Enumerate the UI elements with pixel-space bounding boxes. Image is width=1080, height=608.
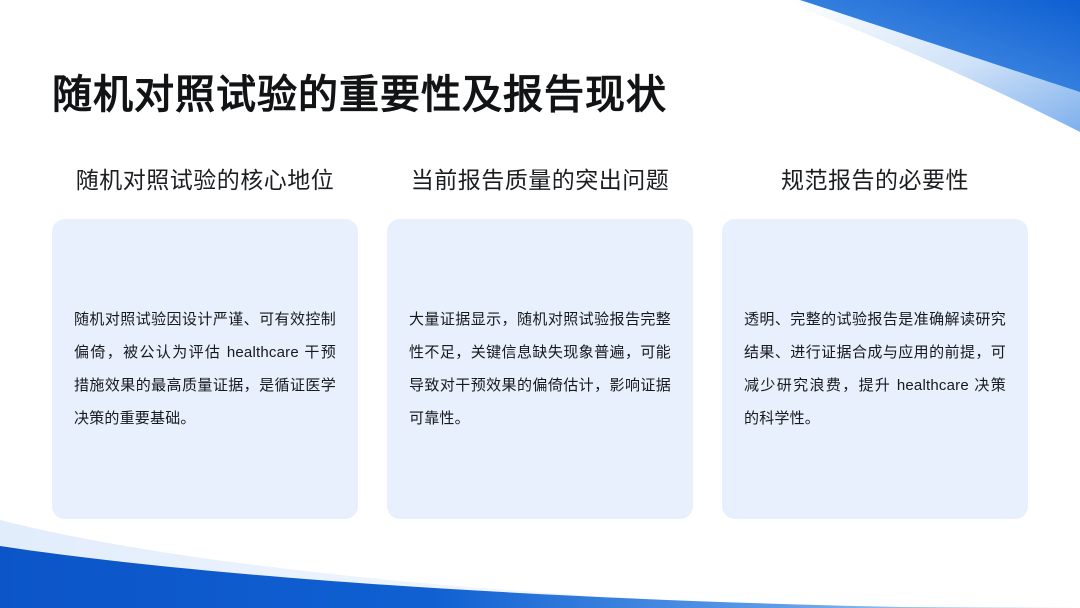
top-right-blue-curve: [800, 0, 1080, 92]
bottom-left-light-curve: [0, 520, 1080, 608]
content-card-2: 大量证据显示，随机对照试验报告完整性不足，关键信息缺失现象普遍，可能导致对干预效…: [387, 219, 693, 519]
column-2: 当前报告质量的突出问题 大量证据显示，随机对照试验报告完整性不足，关键信息缺失现…: [387, 166, 693, 519]
bottom-left-blue-curve: [0, 546, 1080, 608]
content-card-1: 随机对照试验因设计严谨、可有效控制偏倚，被公认为评估 healthcare 干预…: [52, 219, 358, 519]
column-3: 规范报告的必要性 透明、完整的试验报告是准确解读研究结果、进行证据合成与应用的前…: [722, 166, 1028, 519]
top-right-light-curve: [790, 0, 1080, 132]
content-columns: 随机对照试验的核心地位 随机对照试验因设计严谨、可有效控制偏倚，被公认为评估 h…: [52, 166, 1028, 519]
column-heading-2: 当前报告质量的突出问题: [411, 166, 670, 196]
column-heading-3: 规范报告的必要性: [781, 166, 969, 196]
column-heading-1: 随机对照试验的核心地位: [76, 166, 335, 196]
slide-title: 随机对照试验的重要性及报告现状: [52, 71, 667, 120]
column-1: 随机对照试验的核心地位 随机对照试验因设计严谨、可有效控制偏倚，被公认为评估 h…: [52, 166, 358, 519]
card-body-1: 随机对照试验因设计严谨、可有效控制偏倚，被公认为评估 healthcare 干预…: [74, 303, 336, 435]
card-body-2: 大量证据显示，随机对照试验报告完整性不足，关键信息缺失现象普遍，可能导致对干预效…: [409, 303, 671, 435]
card-body-3: 透明、完整的试验报告是准确解读研究结果、进行证据合成与应用的前提，可减少研究浪费…: [744, 303, 1006, 435]
presentation-slide: 随机对照试验的重要性及报告现状 随机对照试验的核心地位 随机对照试验因设计严谨、…: [0, 0, 1080, 608]
content-card-3: 透明、完整的试验报告是准确解读研究结果、进行证据合成与应用的前提，可减少研究浪费…: [722, 219, 1028, 519]
